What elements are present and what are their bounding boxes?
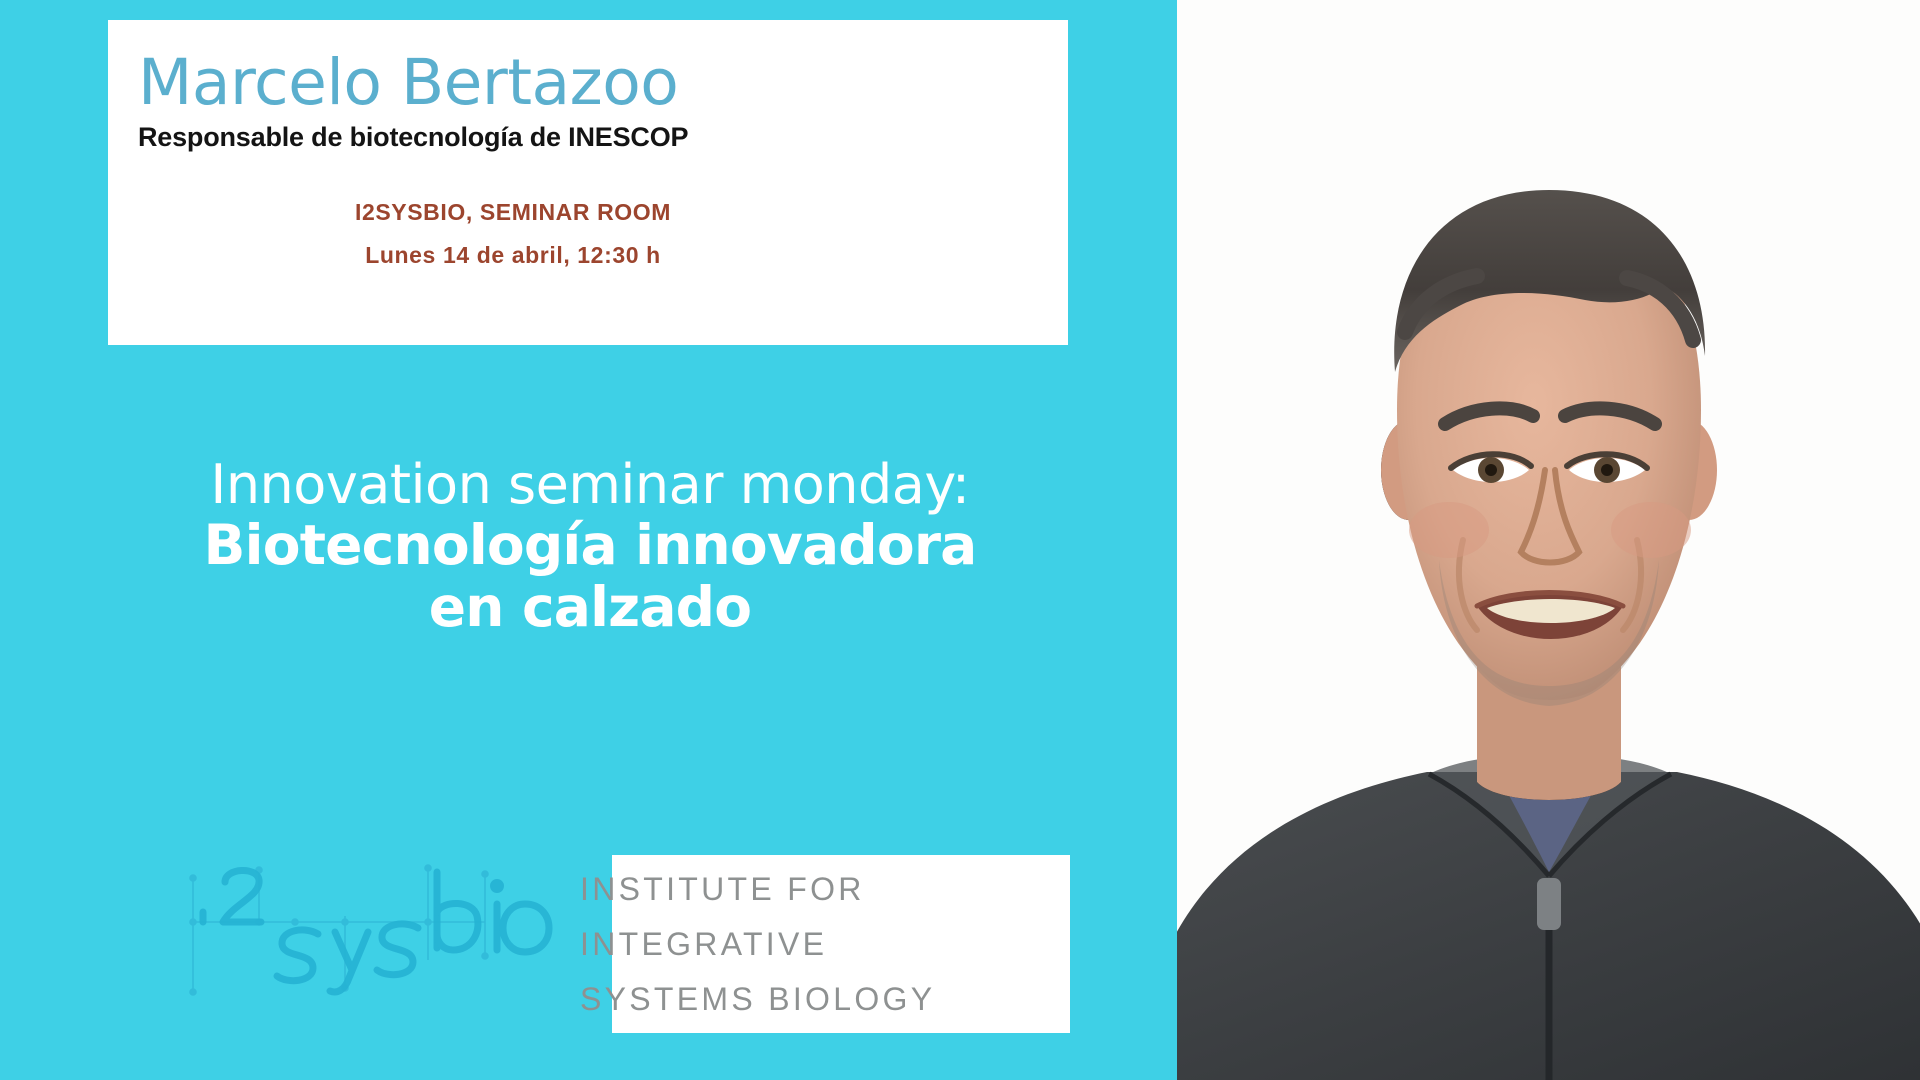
venue-datetime: Lunes 14 de abril, 12:30 h bbox=[138, 234, 888, 277]
i2sysbio-logo-icon bbox=[185, 860, 555, 1015]
speaker-name: Marcelo Bertazoo bbox=[138, 50, 1038, 116]
headline-line-3: en calzado bbox=[60, 577, 1120, 639]
seminar-headline: Innovation seminar monday: Biotecnología… bbox=[60, 455, 1120, 639]
institute-line-3: SYSTEMS BIOLOGY bbox=[580, 972, 1100, 1027]
speaker-role: Responsable de biotecnología de INESCOP bbox=[138, 122, 1038, 153]
speaker-photo bbox=[1177, 0, 1920, 1080]
institute-line-1: INSTITUTE FOR bbox=[580, 862, 1100, 917]
headline-line-2: Biotecnología innovadora bbox=[60, 515, 1120, 577]
institute-line-2: INTEGRATIVE bbox=[580, 917, 1100, 972]
institute-name: INSTITUTE FOR INTEGRATIVE SYSTEMS BIOLOG… bbox=[580, 862, 1100, 1027]
seminar-poster: Marcelo Bertazoo Responsable de biotecno… bbox=[0, 0, 1920, 1080]
venue-block: I2SYSBIO, SEMINAR ROOM Lunes 14 de abril… bbox=[138, 191, 1038, 276]
headline-line-1: Innovation seminar monday: bbox=[60, 455, 1120, 515]
venue-location: I2SYSBIO, SEMINAR ROOM bbox=[138, 191, 888, 234]
speaker-info-card: Marcelo Bertazoo Responsable de biotecno… bbox=[108, 20, 1068, 345]
